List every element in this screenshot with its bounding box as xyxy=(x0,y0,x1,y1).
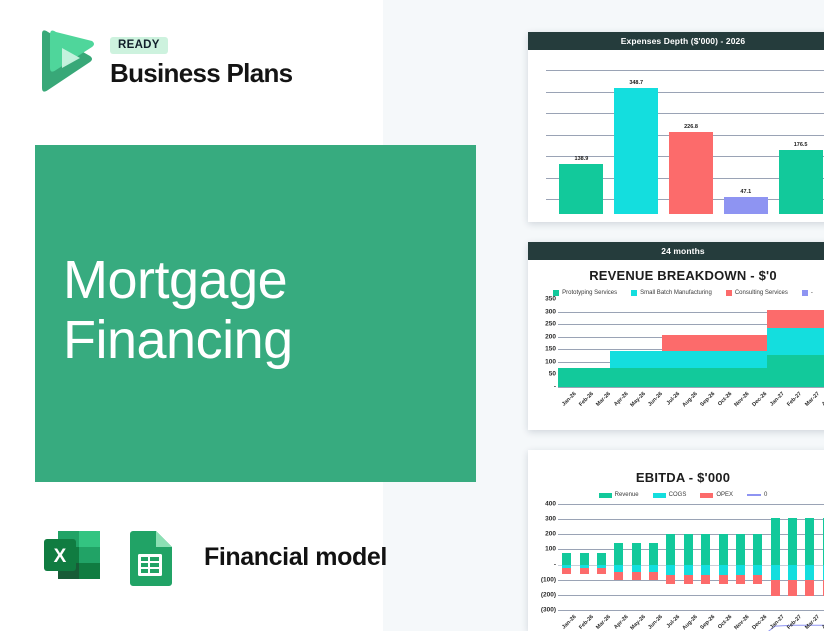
x-tick-slot: Dec-26 xyxy=(749,389,766,413)
bar-segment-opex xyxy=(805,580,814,596)
bar-segment xyxy=(697,351,714,369)
chart-legend-revenue: Prototyping ServicesSmall Batch Manufact… xyxy=(528,290,824,296)
x-axis-label: May-26 xyxy=(629,614,646,631)
legend-label: Small Batch Manufacturing xyxy=(640,290,712,296)
x-tick-slot: Jan-26 xyxy=(558,389,575,413)
x-tick-slot: Feb-27 xyxy=(784,612,801,631)
bar-segment xyxy=(558,368,575,387)
x-tick-slot: Oct-26 xyxy=(715,389,732,413)
bar-segment-revenue xyxy=(597,553,606,564)
bar-segment-cogs xyxy=(614,565,623,573)
brand-text: READY Business Plans xyxy=(110,35,292,88)
bar-segment-opex xyxy=(701,575,710,584)
bar-segment xyxy=(732,335,749,350)
x-tick-slot: Feb-26 xyxy=(576,389,593,413)
x-tick-slot: Nov-26 xyxy=(732,389,749,413)
x-tick-slot: Aug-26 xyxy=(680,612,697,631)
bar-segment xyxy=(697,368,714,387)
x-tick-slot: Dec-26 xyxy=(749,612,766,631)
bar-stack xyxy=(767,310,784,387)
bar-segment xyxy=(628,351,645,369)
bar-segment-revenue xyxy=(632,543,641,565)
bar-column xyxy=(628,504,645,610)
bar-segment-opex xyxy=(736,575,745,584)
x-tick-slot: May-26 xyxy=(628,612,645,631)
bar-segment-revenue xyxy=(614,543,623,565)
bar-segment-cogs xyxy=(771,565,780,580)
bar-segment-opex xyxy=(632,572,641,580)
bar-segment-revenue xyxy=(788,518,797,564)
bar-segment-opex xyxy=(649,572,658,580)
stacked-bars-revenue xyxy=(558,299,824,387)
bar-column: 176.5 xyxy=(779,70,823,214)
legend-label: 0 xyxy=(764,492,767,498)
bar-stack xyxy=(662,335,679,387)
y-axis-tick: - xyxy=(532,384,556,391)
x-tick-slot: Jun-26 xyxy=(645,612,662,631)
bar-segment-cogs xyxy=(666,565,675,576)
bar-segment-opex xyxy=(580,568,589,574)
bar-segment xyxy=(749,351,766,369)
legend-label: Prototyping Services xyxy=(562,290,617,296)
bar-segment xyxy=(819,310,824,328)
bar-segment xyxy=(767,355,784,387)
x-tick-slot: Jul-26 xyxy=(663,389,680,413)
x-axis-label: Aug-26 xyxy=(681,391,698,408)
x-tick-slot: Mar-27 xyxy=(802,612,819,631)
bar-column xyxy=(610,504,627,610)
page-title: Mortgage Financing xyxy=(63,250,293,371)
chart-bars-expenses: 138.9348.7226.847.1176.5 xyxy=(554,70,824,214)
bar-segment-cogs xyxy=(753,565,762,576)
x-tick-slot: Jul-26 xyxy=(663,612,680,631)
bar-segment xyxy=(801,310,818,328)
bar-column xyxy=(575,504,592,610)
bar-column xyxy=(819,504,824,610)
chart-title-expenses-depth: Expenses Depth ($'000) - 2026 xyxy=(528,32,824,50)
x-tick-slot: Sep-26 xyxy=(697,612,714,631)
bar-column: 226.8 xyxy=(669,70,713,214)
legend-swatch xyxy=(653,493,666,498)
bar-column xyxy=(662,504,679,610)
x-tick-slot: Nov-26 xyxy=(732,612,749,631)
bar xyxy=(724,197,768,214)
y-axis-tick: 350 xyxy=(532,296,556,303)
bar-column xyxy=(645,504,662,610)
legend-item: - xyxy=(802,290,813,296)
bar-segment xyxy=(610,351,627,369)
legend-item: 0 xyxy=(747,492,767,498)
x-tick-slot: Feb-26 xyxy=(576,612,593,631)
y-axis-tick: 100 xyxy=(532,358,556,365)
bar-segment-revenue xyxy=(771,518,780,564)
bar-segment-opex xyxy=(753,575,762,584)
bar-segment xyxy=(645,368,662,387)
bar-segment xyxy=(697,335,714,350)
bar-segment-revenue xyxy=(684,534,693,565)
gridline xyxy=(558,610,824,611)
y-axis-tick: 100 xyxy=(532,546,556,553)
microsoft-excel-icon: X xyxy=(36,521,108,593)
bar-segment xyxy=(575,368,592,387)
ready-badge: READY xyxy=(110,37,168,55)
y-axis-tick: 150 xyxy=(532,346,556,353)
x-tick-slot: Apr-27 xyxy=(819,389,824,413)
svg-text:X: X xyxy=(54,546,67,567)
bar-segment xyxy=(784,310,801,328)
legend-item: Revenue xyxy=(599,492,639,498)
y-axis-tick: 50 xyxy=(532,371,556,378)
bar xyxy=(614,88,658,214)
bar-column xyxy=(593,504,610,610)
x-tick-slot: Aug-26 xyxy=(680,389,697,413)
bar-segment xyxy=(610,368,627,387)
x-tick-slot: Mar-26 xyxy=(593,389,610,413)
bar-segment xyxy=(749,368,766,387)
y-axis-tick: 300 xyxy=(532,516,556,523)
bar-stack xyxy=(575,368,592,387)
x-tick-slot: Mar-26 xyxy=(593,612,610,631)
play-arrow-logo-icon xyxy=(34,28,96,94)
bar-column xyxy=(801,504,818,610)
x-tick-slot: Jan-26 xyxy=(558,612,575,631)
bar-stack xyxy=(645,351,662,387)
bar-column xyxy=(767,504,784,610)
google-sheets-icon xyxy=(114,521,186,593)
bar-segment-revenue xyxy=(562,553,571,564)
bar-segment-opex xyxy=(684,575,693,584)
bar-segment xyxy=(680,368,697,387)
bar-segment-cogs xyxy=(805,565,814,580)
x-tick-slot: Jan-27 xyxy=(767,612,784,631)
bar-column xyxy=(749,504,766,610)
x-axis-label: Aug-26 xyxy=(681,614,698,631)
legend-item: Prototyping Services xyxy=(553,290,617,296)
legend-item: Consulting Services xyxy=(726,290,788,296)
bar-column xyxy=(680,504,697,610)
bar-segment-opex xyxy=(562,568,571,574)
bar-stack xyxy=(558,368,575,387)
bar-segment xyxy=(714,335,731,350)
bar-segment-revenue xyxy=(701,534,710,565)
diverging-bars-ebitda xyxy=(558,504,824,610)
brand-name: Business Plans xyxy=(110,60,292,87)
chart-xaxis-ebitda: Jan-26Feb-26Mar-26Apr-26May-26Jun-26Jul-… xyxy=(558,612,824,631)
x-axis-label: May-26 xyxy=(629,391,646,408)
chart-title-ebitda: EBITDA - $'000 xyxy=(528,470,824,485)
bar-stack xyxy=(749,335,766,387)
chart-card-expenses-depth[interactable]: Expenses Depth ($'000) - 2026 138.9348.7… xyxy=(528,32,824,222)
bar-segment-cogs xyxy=(684,565,693,576)
bar-segment-cogs xyxy=(649,565,658,573)
bar-segment xyxy=(714,368,731,387)
bar-segment xyxy=(680,335,697,350)
bar xyxy=(559,164,603,214)
bar-segment xyxy=(801,328,818,354)
bar-segment xyxy=(662,351,679,369)
bar-stack xyxy=(610,351,627,387)
bar-segment xyxy=(767,328,784,354)
legend-label: Revenue xyxy=(615,492,639,498)
bar-segment-opex xyxy=(788,580,797,596)
bar-stack xyxy=(680,335,697,387)
bar-column: 47.1 xyxy=(724,70,768,214)
bar-segment-cogs xyxy=(736,565,745,576)
x-tick-slot: Sep-26 xyxy=(697,389,714,413)
bar-stack xyxy=(628,351,645,387)
legend-label: Consulting Services xyxy=(735,290,788,296)
bar-segment xyxy=(680,351,697,369)
bar-stack xyxy=(801,310,818,387)
bar-column xyxy=(784,504,801,610)
bar-segment xyxy=(801,355,818,387)
bar-segment xyxy=(749,335,766,350)
slide-canvas: READY Business Plans Mortgage Financing … xyxy=(0,0,824,631)
chart-title-revenue-breakdown: REVENUE BREAKDOWN - $'0 xyxy=(528,268,824,283)
x-tick-slot: Feb-27 xyxy=(784,389,801,413)
y-axis-tick: (300) xyxy=(532,607,556,614)
footer-block: X Financial model xyxy=(36,521,387,593)
chart-legend-ebitda: RevenueCOGSOPEX0 xyxy=(528,492,824,498)
y-axis-tick: 200 xyxy=(532,333,556,340)
bar-segment xyxy=(593,368,610,387)
x-tick-slot: Apr-26 xyxy=(610,389,627,413)
bar-segment xyxy=(732,368,749,387)
chart-plot-expenses-depth: 138.9348.7226.847.1176.5 xyxy=(536,56,824,214)
bar-segment-revenue xyxy=(719,534,728,565)
bar-value-label: 226.8 xyxy=(669,124,713,130)
y-axis-tick: (100) xyxy=(532,576,556,583)
x-axis-label: Dec-26 xyxy=(751,391,768,408)
bar-segment-revenue xyxy=(666,534,675,565)
chart-card-ebitda[interactable]: EBITDA - $'000 RevenueCOGSOPEX0 40030020… xyxy=(528,450,824,631)
bar-segment xyxy=(784,328,801,354)
legend-item: Small Batch Manufacturing xyxy=(631,290,712,296)
bar-stack xyxy=(593,368,610,387)
bar xyxy=(669,132,713,214)
legend-label: OPEX xyxy=(716,492,733,498)
y-axis-tick: 300 xyxy=(532,308,556,315)
bar-segment-revenue xyxy=(753,534,762,565)
bar-stack xyxy=(784,310,801,387)
bar-segment-opex xyxy=(666,575,675,584)
bar xyxy=(779,150,823,214)
bar-segment xyxy=(662,368,679,387)
x-axis-label: Sep-26 xyxy=(699,614,716,631)
x-axis-label: Nov-26 xyxy=(734,391,751,408)
bar-segment-cogs xyxy=(701,565,710,576)
bar-segment xyxy=(819,328,824,354)
bar-segment-opex xyxy=(614,572,623,580)
legend-swatch xyxy=(726,290,732,296)
bar-segment xyxy=(628,368,645,387)
bar-segment xyxy=(732,351,749,369)
legend-swatch xyxy=(802,290,808,296)
bar-segment-revenue xyxy=(736,534,745,565)
x-tick-slot: Apr-27 xyxy=(819,612,824,631)
legend-item: COGS xyxy=(653,492,687,498)
bar-segment-opex xyxy=(719,575,728,584)
bar-stack xyxy=(697,335,714,387)
bar-column: 138.9 xyxy=(559,70,603,214)
x-tick-slot: May-26 xyxy=(628,389,645,413)
bar-segment-cogs xyxy=(719,565,728,576)
bar-segment xyxy=(767,310,784,328)
bar-segment-revenue xyxy=(805,518,814,564)
x-axis-label: Sep-26 xyxy=(699,391,716,408)
bar-segment-cogs xyxy=(788,565,797,580)
x-axis-label: Dec-26 xyxy=(751,614,768,631)
bar-segment xyxy=(645,351,662,369)
x-axis-label: Nov-26 xyxy=(734,614,751,631)
x-tick-slot: Mar-27 xyxy=(802,389,819,413)
legend-swatch xyxy=(747,494,761,496)
chart-card-revenue-breakdown[interactable]: 24 months REVENUE BREAKDOWN - $'0 Protot… xyxy=(528,242,824,430)
y-axis-tick: (200) xyxy=(532,591,556,598)
y-axis-tick: - xyxy=(532,561,556,568)
legend-swatch xyxy=(599,493,612,498)
bar-column xyxy=(558,504,575,610)
financial-model-label: Financial model xyxy=(204,543,387,572)
chart-plot-revenue: 35030025020015010050- xyxy=(532,299,824,387)
bar-segment xyxy=(784,355,801,387)
hero-green-block: Mortgage Financing xyxy=(35,145,476,482)
bar-stack xyxy=(732,335,749,387)
y-axis-tick: 200 xyxy=(532,531,556,538)
legend-label: COGS xyxy=(669,492,687,498)
bar-column xyxy=(714,504,731,610)
legend-label: - xyxy=(811,290,813,296)
x-tick-slot: Jun-26 xyxy=(645,389,662,413)
bar-stack xyxy=(819,310,824,387)
chart-plot-ebitda: 400300200100-(100)(200)(300) xyxy=(532,504,824,610)
legend-swatch xyxy=(631,290,637,296)
legend-swatch xyxy=(700,493,713,498)
bar-stack xyxy=(714,335,731,387)
bar-column: 348.7 xyxy=(614,70,658,214)
bar-segment-opex xyxy=(771,580,780,596)
bar-segment xyxy=(714,351,731,369)
chart-strip-24-months: 24 months xyxy=(528,242,824,260)
bar-segment-opex xyxy=(597,568,606,574)
bar-value-label: 176.5 xyxy=(779,142,823,148)
bar-segment-revenue xyxy=(649,543,658,565)
bar-column xyxy=(697,504,714,610)
y-axis-tick: 250 xyxy=(532,321,556,328)
x-tick-slot: Jan-27 xyxy=(767,389,784,413)
y-axis-tick: 400 xyxy=(532,501,556,508)
bar-segment xyxy=(662,335,679,350)
bar-segment xyxy=(819,355,824,387)
bar-segment-cogs xyxy=(632,565,641,573)
x-tick-slot: Apr-26 xyxy=(610,612,627,631)
chart-xaxis-revenue: Jan-26Feb-26Mar-26Apr-26May-26Jun-26Jul-… xyxy=(558,389,824,413)
x-tick-slot: Oct-26 xyxy=(715,612,732,631)
bar-value-label: 47.1 xyxy=(724,189,768,195)
bar-segment-revenue xyxy=(580,553,589,564)
bar-column xyxy=(732,504,749,610)
bar-value-label: 348.7 xyxy=(614,80,658,86)
brand-block: READY Business Plans xyxy=(34,28,292,94)
legend-item: OPEX xyxy=(700,492,733,498)
bar-value-label: 138.9 xyxy=(559,156,603,162)
gridline xyxy=(558,387,824,388)
